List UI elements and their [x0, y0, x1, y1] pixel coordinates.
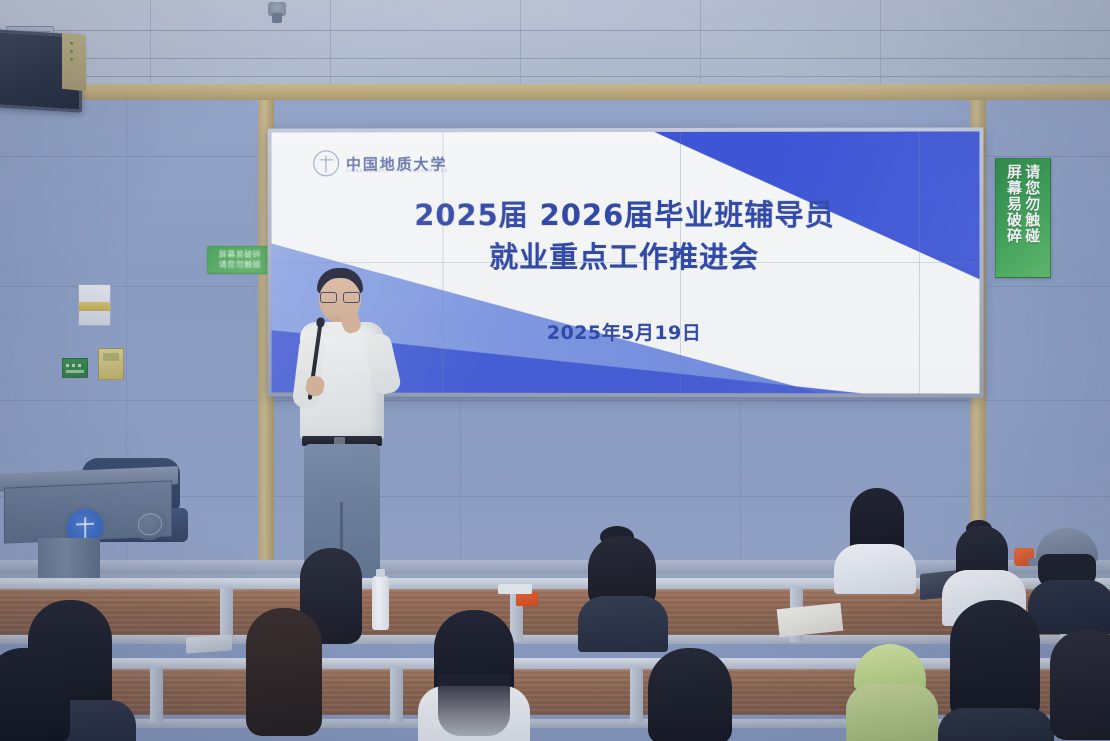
audience-person: [1046, 630, 1110, 741]
audience-person: [838, 488, 912, 584]
audience-person: [934, 600, 1056, 741]
university-seal-icon: [313, 150, 339, 176]
water-bottle-icon: [372, 576, 389, 630]
lecture-hall-photo: 屏幕易破碎 请您勿触碰 请您勿触碰 屏幕易破碎 中国地质大学 CHINA UNI…: [0, 0, 1110, 741]
university-logo-subtext: CHINA UNIVERSITY OF GEOSCIENCES: [346, 168, 448, 173]
warning-sign-left: 屏幕易破碎 请您勿触碰: [207, 246, 273, 274]
audience-person: [232, 608, 336, 741]
wall-exit-sign-icon: [62, 358, 88, 378]
warning-sign-left-line2: 请您勿触碰: [219, 260, 262, 270]
audience-person: [416, 610, 532, 741]
audience-person: [0, 648, 70, 741]
wall-junction-box: [98, 348, 124, 380]
audience-person: [578, 534, 668, 646]
slide-title-line1: 2025届 2026届毕业班辅导员: [414, 198, 834, 232]
glasses-icon: [320, 292, 360, 301]
white-paper-icon: [498, 584, 532, 594]
audience-person: [636, 648, 744, 741]
slide-title: 2025届 2026届毕业班辅导员 就业重点工作推进会: [272, 194, 980, 278]
warning-sign-left-line1: 屏幕易破碎: [219, 250, 262, 260]
warning-sign-right: 请您勿触碰 屏幕易破碎: [995, 158, 1051, 278]
orange-box-icon: [516, 592, 538, 606]
ceiling: [0, 0, 1110, 86]
warning-sign-right-col1: 请您勿触碰: [1024, 164, 1040, 272]
notebook-icon: [186, 634, 232, 653]
podium-secondary-emblem-icon: [133, 508, 167, 541]
podium-front-panel: [4, 480, 172, 543]
audience-person: [846, 644, 942, 741]
warning-sign-right-col2: 屏幕易破碎: [1006, 164, 1022, 272]
smoke-detector-icon: [268, 2, 286, 16]
wall-control-panel: [78, 284, 111, 326]
ceiling-speaker-icon: [62, 33, 86, 92]
